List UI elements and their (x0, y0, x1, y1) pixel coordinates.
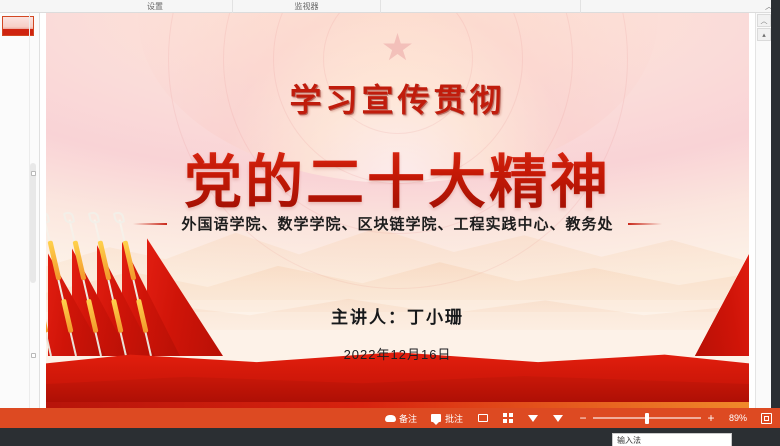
dash-right-decor (628, 223, 662, 225)
toolbar-monitor[interactable]: 监视器 (233, 0, 381, 13)
slide-speaker[interactable]: 主讲人：丁小珊 (46, 303, 749, 328)
powerpoint-window: 设置 监视器 ︿ (0, 0, 780, 446)
ime-popup-label: 输入法 (617, 436, 641, 445)
status-bar: 备注 批注 − + 89% (0, 408, 780, 428)
toolbar-spacer (581, 0, 758, 13)
slide-headline[interactable]: 学习宣传贯彻 (46, 75, 749, 121)
slide-subline-row: 外国语学院、数学学院、区块链学院、工程实践中心、教务处 (46, 213, 749, 234)
zoom-slider-track[interactable] (593, 417, 701, 419)
window-right-edge (771, 0, 780, 408)
rail-scrollbar[interactable] (29, 13, 35, 408)
normal-view-button[interactable] (470, 408, 495, 428)
slide-subline[interactable]: 外国语学院、数学学院、区块链学院、工程实践中心、教务处 (181, 213, 613, 234)
comments-button[interactable]: 批注 (424, 408, 470, 428)
toolbar-cell-empty[interactable] (381, 0, 581, 13)
reading-view-button[interactable] (520, 408, 545, 428)
slide-canvas[interactable]: 学习宣传贯彻 党的二十大精神 外国语学院、数学学院、区块链学院、工程实践中心、教… (46, 13, 749, 408)
chevron-up-icon[interactable]: ︿ (757, 14, 771, 27)
comments-label: 批注 (445, 412, 463, 425)
ime-popup[interactable]: 输入法 (612, 433, 732, 446)
zoom-out-button[interactable]: − (578, 412, 588, 424)
slide-stage: 学习宣传贯彻 党的二十大精神 外国语学院、数学学院、区块链学院、工程实践中心、教… (40, 13, 755, 408)
zoom-percent-label[interactable]: 89% (721, 413, 747, 423)
notes-label: 备注 (399, 412, 417, 425)
top-toolbar: 设置 监视器 ︿ (0, 0, 780, 13)
splitter-handle-top[interactable] (31, 171, 36, 176)
scroll-up-arrow-icon[interactable]: ▴ (757, 28, 771, 41)
vertical-scrollbar[interactable]: ︿ ▴ (755, 13, 771, 408)
notes-button[interactable]: 备注 (378, 408, 424, 428)
fit-to-window-icon[interactable] (761, 413, 772, 424)
toolbar-settings[interactable]: 设置 (78, 0, 233, 13)
slide-sorter-button[interactable] (495, 408, 520, 428)
slideshow-icon (552, 413, 563, 424)
cloud-icon (385, 413, 396, 424)
normal-view-icon (477, 413, 488, 424)
zoom-slider-knob[interactable] (645, 413, 649, 424)
slide-sorter-icon (502, 413, 513, 424)
reading-view-icon (527, 413, 538, 424)
slide-thumbnail-rail[interactable] (0, 13, 40, 408)
flag-decor (695, 226, 749, 356)
slideshow-button[interactable] (545, 408, 570, 428)
slide-date[interactable]: 2022年12月16日 (46, 344, 749, 363)
rail-scrollbar-thumb[interactable] (30, 163, 36, 283)
dash-left-decor (133, 223, 167, 225)
toolbar-cell-blank[interactable] (0, 0, 78, 13)
zoom-slider-group[interactable]: − + 89% (570, 412, 755, 424)
comment-bubble-icon (431, 413, 442, 424)
zoom-in-button[interactable]: + (706, 412, 716, 424)
splitter-handle-bottom[interactable] (31, 353, 36, 358)
page-title[interactable]: 党的二十大精神 (46, 135, 749, 219)
